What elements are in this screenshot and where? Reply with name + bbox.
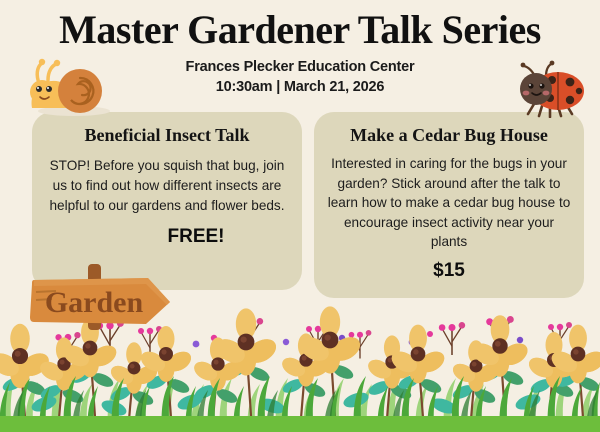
snail-icon (26, 58, 116, 116)
garden-sign: Garden (30, 262, 175, 332)
card-title: Beneficial Insect Talk (42, 124, 292, 146)
sign-label: Garden (45, 286, 144, 319)
ladybug-icon (512, 60, 588, 118)
event-card-cedar-bug-house[interactable]: Make a Cedar Bug House Interested in car… (314, 112, 584, 298)
ground-strip (0, 416, 600, 432)
poster-canvas: Beneficial Insect Talk STOP! Before you … (0, 0, 600, 432)
card-description: STOP! Before you squish that bug, join u… (46, 156, 288, 216)
card-price: FREE! (90, 226, 302, 248)
card-title: Make a Cedar Bug House (324, 124, 574, 146)
card-price: $15 (314, 260, 584, 282)
card-description: Interested in caring for the bugs in you… (326, 154, 572, 252)
page-title: Master Gardener Talk Series (0, 8, 600, 52)
